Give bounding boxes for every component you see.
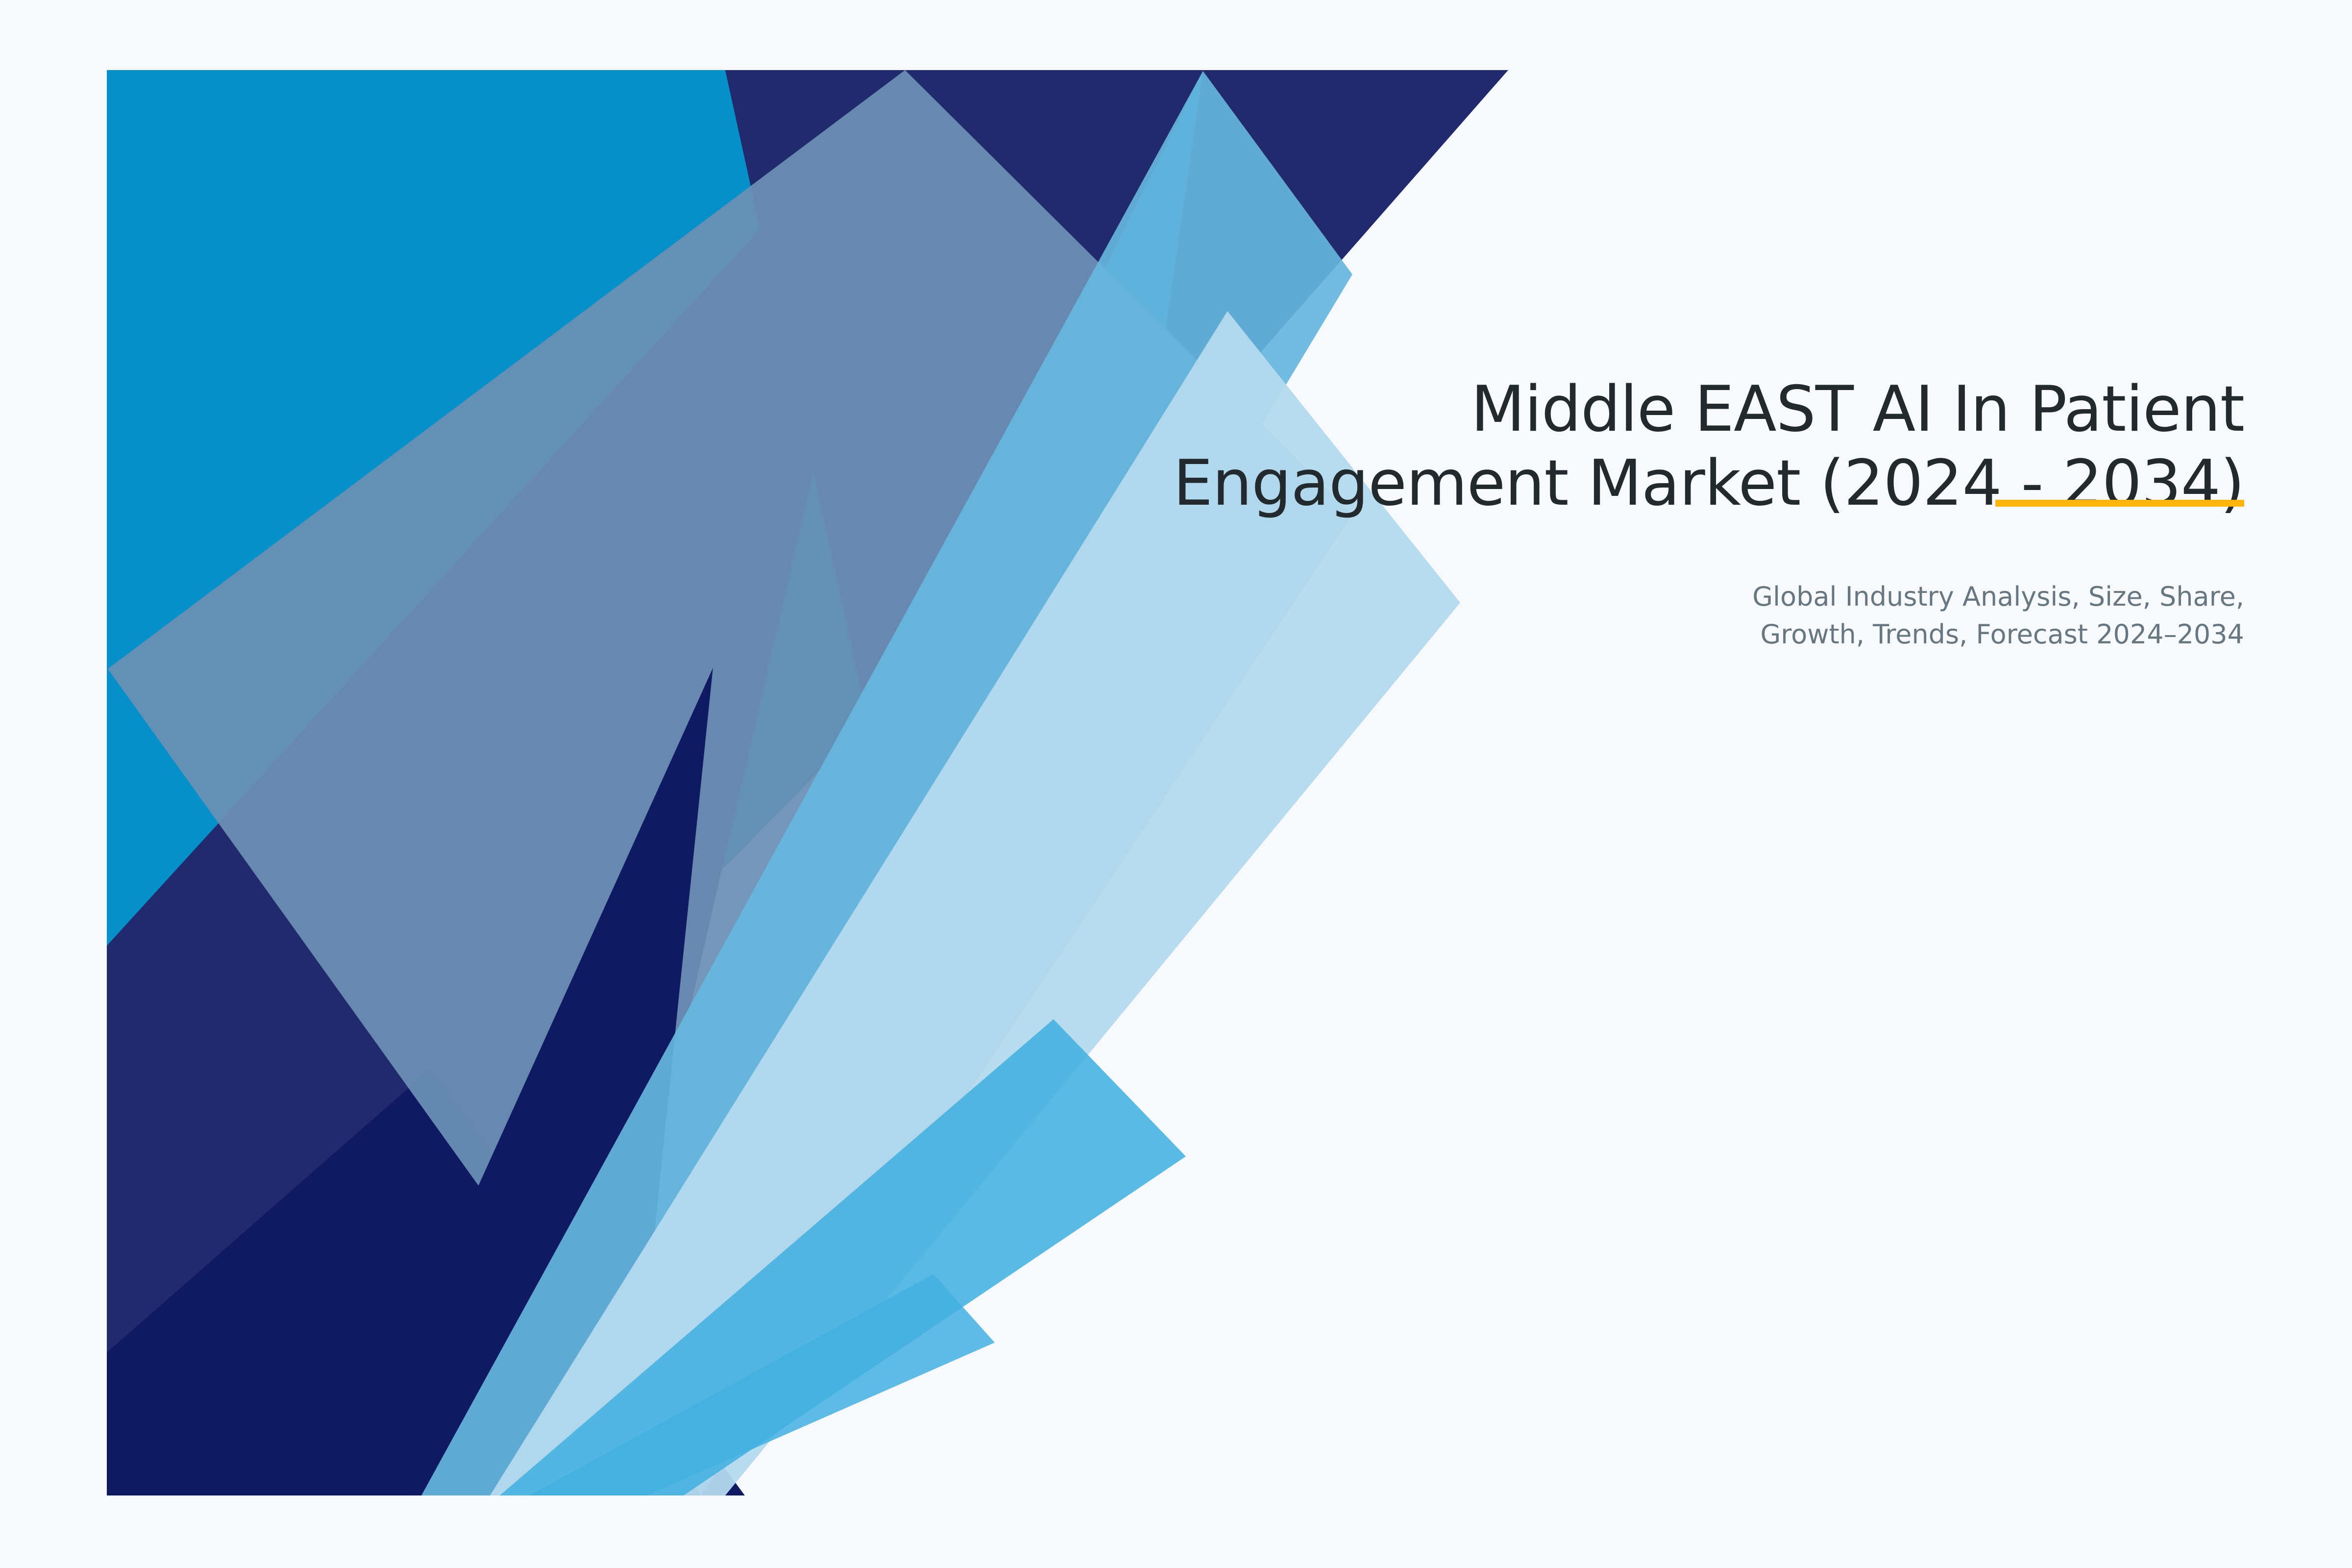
page-subtitle: Global Industry Analysis, Size, Share, G… (970, 578, 2244, 653)
cover-text-block: Middle EAST AI In Patient Engagement Mar… (970, 372, 2244, 653)
title-underline-accent (1995, 500, 2244, 507)
abstract-geometric-artwork (0, 0, 2352, 1568)
title-wrapper: Middle EAST AI In Patient Engagement Mar… (970, 372, 2244, 520)
page-title: Middle EAST AI In Patient Engagement Mar… (970, 372, 2244, 520)
report-cover: Middle EAST AI In Patient Engagement Mar… (0, 0, 2352, 1568)
